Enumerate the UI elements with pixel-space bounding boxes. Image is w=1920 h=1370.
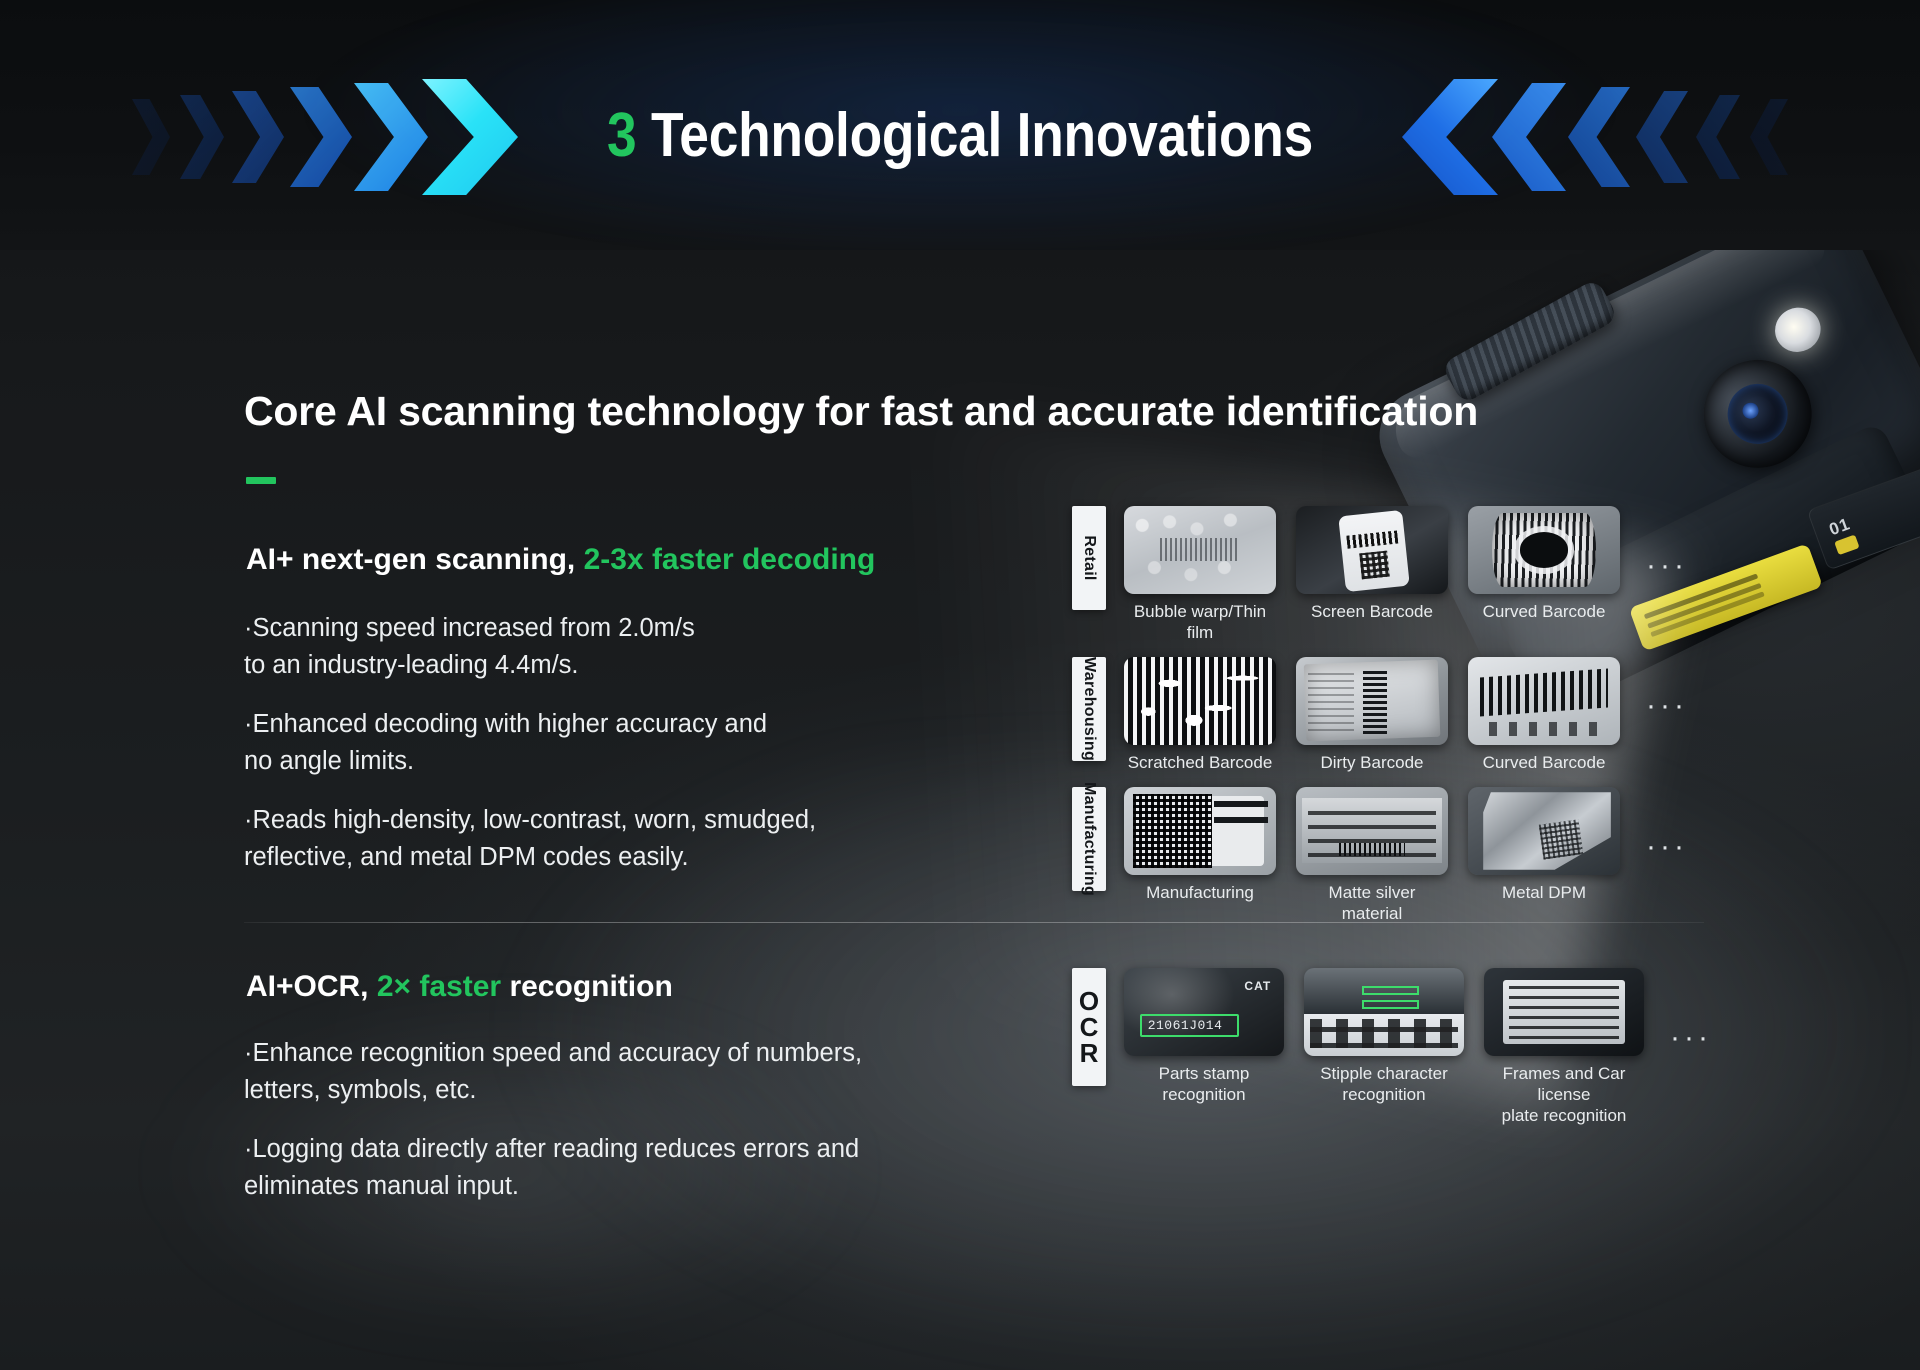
- dirty-barcode-thumb: [1296, 657, 1448, 745]
- accent-dash: [246, 477, 276, 484]
- sample-cell[interactable]: Dirty Barcode: [1296, 657, 1448, 773]
- stipple-character-thumb: [1304, 968, 1464, 1056]
- bubble-wrap-barcode-thumb: [1124, 506, 1276, 594]
- sample-cell[interactable]: Screen Barcode: [1296, 506, 1448, 622]
- section-2-bullets: ·Enhance recognition speed and accuracy …: [244, 1035, 1004, 1227]
- bullet-item: ·Logging data directly after reading red…: [244, 1131, 1004, 1205]
- manufacturing-qr-thumb: [1124, 787, 1276, 875]
- header-band: 3 Technological Innovations: [0, 0, 1920, 250]
- scratched-barcode-thumb: [1124, 657, 1276, 745]
- section-2-heading: AI+OCR, 2× faster recognition: [246, 970, 673, 1004]
- slide-title-number: 3: [607, 101, 636, 170]
- sample-cell[interactable]: Scratched Barcode: [1124, 657, 1276, 773]
- sample-row-warehousing: Warehousing Scratched Barcode Dirty Barc…: [1072, 657, 1688, 773]
- section-1-bullets: ·Scanning speed increased from 2.0m/s to…: [244, 610, 1004, 898]
- sample-row-manufacturing: Manufacturing Manufacturing Matte silver…: [1072, 787, 1688, 924]
- section-2-heading-tail: recognition: [501, 970, 673, 1003]
- curved-barcode-roll-thumb: [1468, 506, 1620, 594]
- barcode-sample-grid: Retail Bubble warp/Thin film Screen Barc…: [1072, 506, 1688, 938]
- sample-row-ocr: O C R CAT 21061J014 Parts stamp recognit…: [1072, 968, 1712, 1126]
- sample-cell[interactable]: Stipple character recognition: [1304, 968, 1464, 1105]
- slide-stage: 3 Technological Innovations 01 Core AI s…: [0, 0, 1920, 1370]
- content-area: Core AI scanning technology for fast and…: [0, 250, 1920, 1370]
- category-tab-ocr: O C R: [1072, 968, 1106, 1086]
- sample-cell[interactable]: Curved Barcode: [1468, 506, 1620, 622]
- sample-cell[interactable]: Metal DPM: [1468, 787, 1620, 903]
- section-2-heading-highlight: 2× faster: [377, 970, 501, 1003]
- metal-dpm-thumb: [1468, 787, 1620, 875]
- sample-cell[interactable]: Manufacturing: [1124, 787, 1276, 903]
- more-samples-ellipsis[interactable]: ···: [1646, 830, 1688, 864]
- sample-cell[interactable]: Curved Barcode: [1468, 657, 1620, 773]
- sample-row-retail: Retail Bubble warp/Thin film Screen Barc…: [1072, 506, 1688, 643]
- more-samples-ellipsis[interactable]: ···: [1646, 689, 1688, 723]
- bullet-item: ·Enhance recognition speed and accuracy …: [244, 1035, 1004, 1109]
- section-1-heading: AI+ next-gen scanning, 2-3x faster decod…: [246, 543, 875, 577]
- ocr-detected-text: 21061J014: [1148, 1018, 1223, 1033]
- matte-silver-label-thumb: [1296, 787, 1448, 875]
- category-tab-manufacturing: Manufacturing: [1072, 787, 1106, 891]
- cat-brand-text: CAT: [1244, 979, 1271, 993]
- screen-barcode-thumb: [1296, 506, 1448, 594]
- bullet-item: ·Scanning speed increased from 2.0m/s to…: [244, 610, 1004, 684]
- license-plate-frame-thumb: [1484, 968, 1644, 1056]
- slide-title: 3 Technological Innovations: [134, 100, 1785, 171]
- bullet-item: ·Reads high-density, low-contrast, worn,…: [244, 802, 1004, 876]
- category-tab-retail: Retail: [1072, 506, 1106, 610]
- slide-title-text: Technological Innovations: [651, 101, 1313, 170]
- curved-barcode-label-thumb: [1468, 657, 1620, 745]
- bullet-item: ·Enhanced decoding with higher accuracy …: [244, 706, 1004, 780]
- sample-cell[interactable]: Frames and Car license plate recognition: [1484, 968, 1644, 1126]
- category-tab-warehousing: Warehousing: [1072, 657, 1106, 761]
- section-2-heading-plain: AI+OCR,: [246, 970, 377, 1003]
- section-1-heading-plain: AI+ next-gen scanning,: [246, 543, 584, 576]
- more-samples-ellipsis[interactable]: ···: [1670, 1021, 1712, 1055]
- page-title: Core AI scanning technology for fast and…: [244, 388, 1478, 435]
- sample-cell[interactable]: Matte silver material: [1296, 787, 1448, 924]
- parts-stamp-thumb: CAT 21061J014: [1124, 968, 1284, 1056]
- sample-cell[interactable]: Bubble warp/Thin film: [1124, 506, 1276, 643]
- ocr-sample-grid: O C R CAT 21061J014 Parts stamp recognit…: [1072, 968, 1712, 1140]
- more-samples-ellipsis[interactable]: ···: [1646, 549, 1688, 583]
- sample-cell[interactable]: CAT 21061J014 Parts stamp recognition: [1124, 968, 1284, 1105]
- section-1-heading-highlight: 2-3x faster decoding: [584, 543, 876, 576]
